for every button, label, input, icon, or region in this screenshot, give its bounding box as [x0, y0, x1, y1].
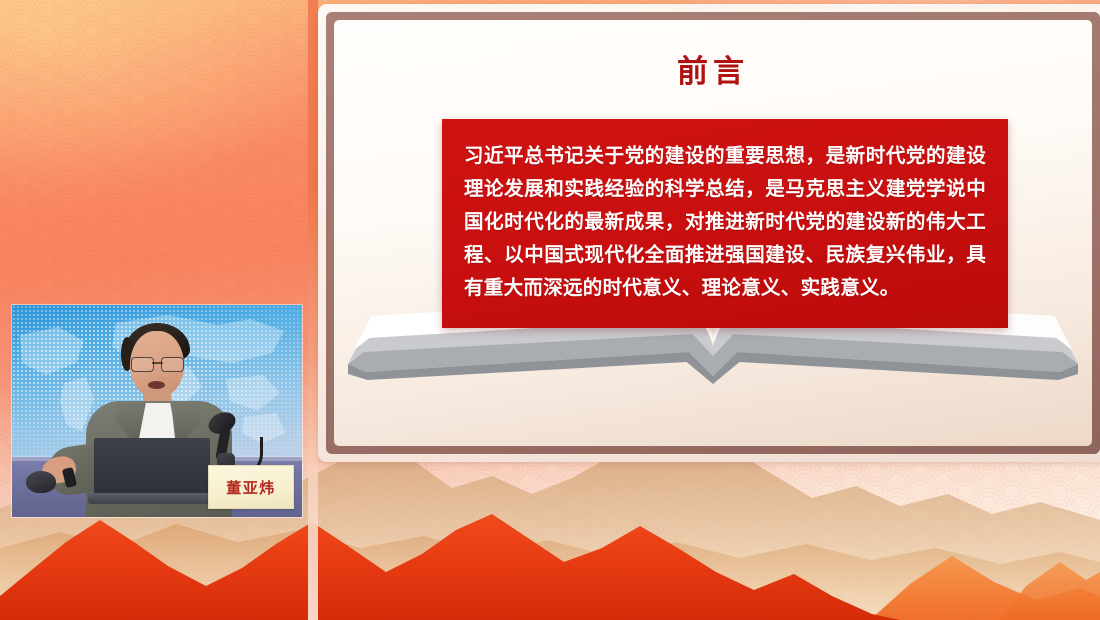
laptop-screen	[94, 438, 210, 496]
speaker-video-inset[interactable]: 董亚炜	[12, 305, 302, 517]
speaker-name-text: 董亚炜	[226, 477, 276, 498]
column-divider	[308, 0, 318, 620]
slide-content-area: 前言 习近平总书记关于党的建设的重要思想，是新时代党的建设理论发展和实	[334, 20, 1092, 446]
laptop-base	[88, 493, 216, 504]
slide-frame-border: 前言 习近平总书记关于党的建设的重要思想，是新时代党的建设理论发展和实	[326, 12, 1100, 454]
mouse-device	[26, 471, 56, 493]
presentation-stage: 董亚炜 前言	[0, 0, 1100, 620]
speaker-nameplate: 董亚炜	[208, 465, 294, 509]
speaker-glasses	[131, 357, 184, 370]
slide-body-text: 习近平总书记关于党的建设的重要思想，是新时代党的建设理论发展和实践经验的科学总结…	[464, 139, 986, 304]
slide-title: 前言	[334, 46, 1092, 91]
slide-body-box: 习近平总书记关于党的建设的重要思想，是新时代党的建设理论发展和实践经验的科学总结…	[442, 119, 1008, 328]
slide-frame-outer: 前言 习近平总书记关于党的建设的重要思想，是新时代党的建设理论发展和实	[318, 4, 1100, 462]
speaker-mouth	[148, 381, 165, 389]
